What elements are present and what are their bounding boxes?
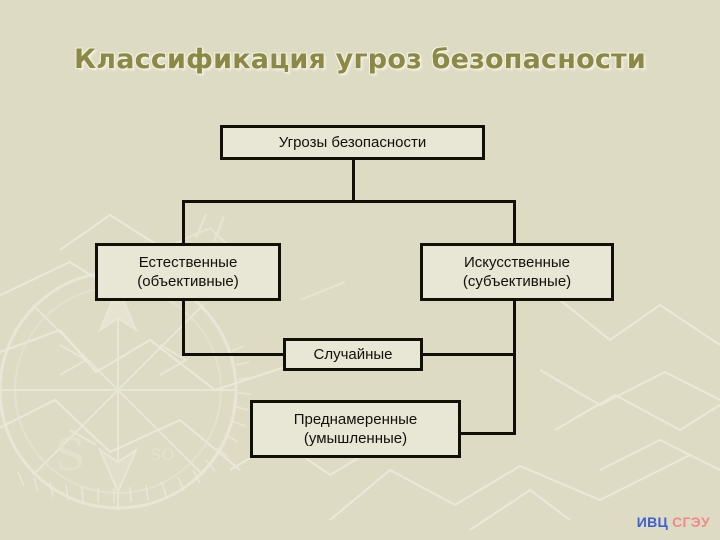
classification-flowchart: Угрозы безопасности Естественные (объект… (0, 0, 720, 540)
node-label-line: Естественные (139, 253, 238, 272)
node-artificial-threats[interactable]: Искусственные (субъективные) (420, 243, 614, 301)
node-label-line: Искусственные (464, 253, 570, 272)
slide-canvas: S so Классификация угроз безопасности (0, 0, 720, 540)
connector-natural-down (182, 300, 185, 356)
connector-artificial-to-deliberate (458, 432, 516, 435)
logo-primary-text: ИВЦ (637, 514, 668, 530)
node-natural-threats[interactable]: Естественные (объективные) (95, 243, 281, 301)
node-label-line: (умышленные) (304, 429, 407, 448)
node-label-line: (объективные) (137, 272, 239, 291)
connector-natural-to-accidental (182, 353, 286, 356)
node-label-line: Угрозы безопасности (279, 133, 427, 152)
node-accidental-threats[interactable]: Случайные (283, 338, 423, 371)
node-deliberate-threats[interactable]: Преднамеренные (умышленные) (250, 400, 461, 458)
connector-to-artificial (513, 200, 516, 245)
connector-to-natural (182, 200, 185, 245)
node-label-line: (субъективные) (463, 272, 571, 291)
connector-artificial-down (513, 300, 516, 435)
node-security-threats[interactable]: Угрозы безопасности (220, 125, 485, 160)
connector-accidental-to-artificial (420, 353, 516, 356)
node-label-line: Преднамеренные (294, 410, 418, 429)
node-label-line: Случайные (313, 345, 392, 364)
connector-root-down (352, 158, 355, 203)
logo-secondary-text: СГЭУ (672, 514, 710, 530)
connector-split-bar (182, 200, 516, 203)
organization-logo: ИВЦСГЭУ (637, 514, 710, 530)
